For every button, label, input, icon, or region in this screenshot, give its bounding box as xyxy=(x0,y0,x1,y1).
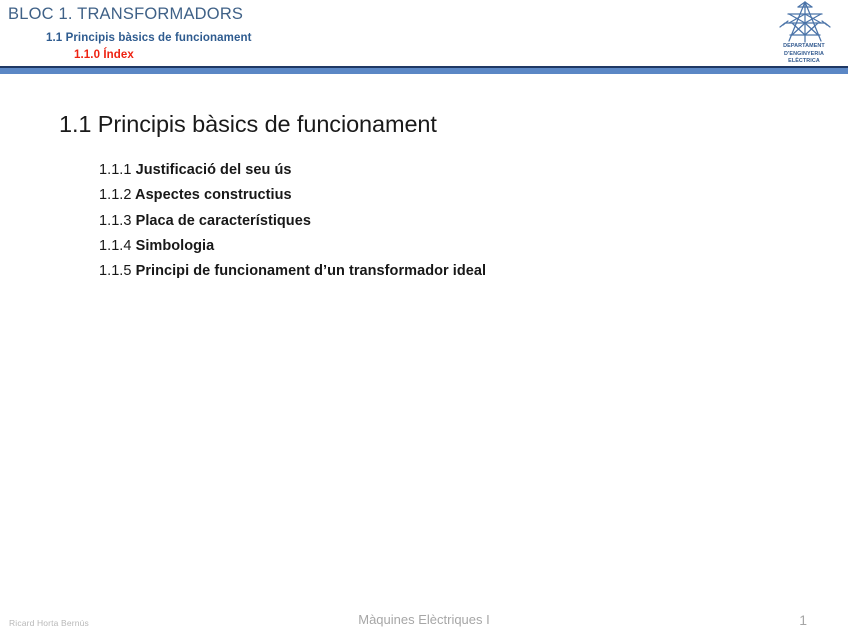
list-item-label: Aspectes constructius xyxy=(135,187,292,203)
list-item-label: Principi de funcionament d’un transforma… xyxy=(136,263,487,279)
department-logo-text: DEPARTAMENT D'ENGINYERIA ELÈCTRICA xyxy=(766,43,842,66)
logo-text-line3: ELÈCTRICA xyxy=(766,58,842,66)
list-item: 1.1.5 Principi de funcionament d’un tran… xyxy=(99,259,799,284)
list-item-number: 1.1.2 xyxy=(99,187,132,203)
slide-body: 1.1 Principis bàsics de funcionament 1.1… xyxy=(0,74,848,604)
list-item-label: Justificació del seu ús xyxy=(136,162,292,178)
list-item-number: 1.1.1 xyxy=(99,162,132,178)
list-item-label: Placa de característiques xyxy=(136,213,311,229)
list-item: 1.1.3 Placa de característiques xyxy=(99,209,799,234)
slide-header: BLOC 1. TRANSFORMADORS 1.1 Principis bàs… xyxy=(0,0,848,66)
slide-footer: Ricard Horta Bernús Màquines Elèctriques… xyxy=(0,604,848,636)
logo-text-line1: DEPARTAMENT xyxy=(766,43,842,51)
breadcrumb-block-title: BLOC 1. TRANSFORMADORS xyxy=(8,5,243,24)
page-title: 1.1 Principis bàsics de funcionament xyxy=(59,111,437,138)
breadcrumb-section-title: 1.1 Principis bàsics de funcionament xyxy=(46,32,252,44)
list-item-label: Simbologia xyxy=(136,238,215,254)
footer-course-title: Màquines Elèctriques I xyxy=(0,612,848,627)
header-divider-bar xyxy=(0,66,848,74)
department-logo: DEPARTAMENT D'ENGINYERIA ELÈCTRICA xyxy=(766,0,842,72)
list-item-number: 1.1.4 xyxy=(99,238,132,254)
footer-page-number: 1 xyxy=(799,612,807,628)
slide-canvas: BLOC 1. TRANSFORMADORS 1.1 Principis bàs… xyxy=(0,0,848,636)
list-item: 1.1.1 Justificació del seu ús xyxy=(99,158,799,183)
list-item: 1.1.2 Aspectes constructius xyxy=(99,183,799,208)
breadcrumb-subsection-title: 1.1.0 Índex xyxy=(74,49,134,61)
list-item-number: 1.1.3 xyxy=(99,213,132,229)
list-item-number: 1.1.5 xyxy=(99,263,132,279)
topic-list: 1.1.1 Justificació del seu ús 1.1.2 Aspe… xyxy=(99,158,799,284)
power-pylon-icon xyxy=(776,1,834,43)
list-item: 1.1.4 Simbologia xyxy=(99,234,799,259)
logo-text-line2: D'ENGINYERIA xyxy=(766,51,842,59)
